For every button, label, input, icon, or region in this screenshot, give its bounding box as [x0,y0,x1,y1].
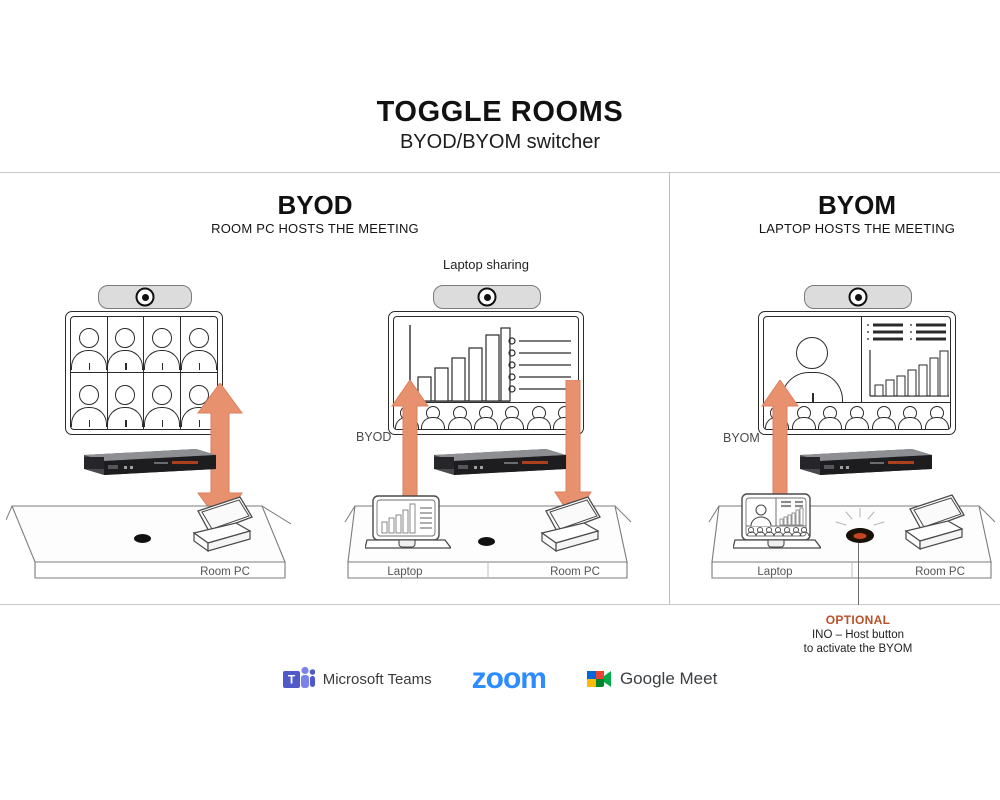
laptop-sharing-caption: Laptop sharing [386,257,586,272]
byom-panel-title: BYOM [722,190,992,221]
byod-table-label-roompc-2: Room PC [515,566,635,578]
byod-table-puck [134,534,151,543]
logo-label-zoom: zoom [472,662,546,696]
microsoft-teams-icon: T [283,666,315,692]
byom-panel-subtitle: LAPTOP HOSTS THE MEETING [722,221,992,236]
participant-tile [144,317,181,373]
byom-table-label-laptop: Laptop [715,566,835,578]
byod-table-label-laptop: Laptop [345,566,465,578]
byod-sharing-table-puck [478,537,495,546]
google-meet-icon [586,668,612,690]
byom-flow-label: BYOM [723,431,760,445]
video-bar-camera [98,285,192,309]
logo-label-google-meet: Google Meet [620,669,717,689]
byom-content-pane [861,317,950,403]
svg-text:T: T [288,673,296,687]
page-subtitle: BYOD/BYOM switcher [0,131,1000,154]
platform-logos: T Microsoft Teams zoom Google Meet [0,662,1000,696]
logo-label-teams: Microsoft Teams [323,671,432,688]
participant-tile [108,317,145,373]
byom-laptop-device [733,492,821,559]
byod-table-label-roompc: Room PC [160,566,290,578]
byod-panel-title: BYOD [180,190,450,221]
video-bar-camera [433,285,541,309]
toggle-rooms-appliance [84,447,216,482]
camera-lens-icon [849,288,868,307]
byod-sharing-room-pc-device [536,493,604,560]
panel-divider [669,172,670,604]
footer-divider [0,604,1000,605]
ino-leader-line [858,543,859,605]
participant-tile [71,317,108,373]
byod-room-pc-device [188,493,256,560]
video-bar-camera [804,285,912,309]
logo-google-meet: Google Meet [586,668,717,690]
participant-tile [144,373,181,429]
byom-room-pc-device [900,491,968,558]
optional-note-title: OPTIONAL [758,613,958,627]
byod-panel-subtitle: ROOM PC HOSTS THE MEETING [180,221,450,236]
camera-lens-icon [478,288,497,307]
participant-tile [108,373,145,429]
ino-host-button[interactable] [846,528,874,543]
byom-table-label-roompc: Room PC [880,566,1000,578]
byom-screen-bar-chart [867,348,951,400]
diagram-canvas: TOGGLE ROOMS BYOD/BYOM switcher BYOD ROO… [0,0,1000,800]
toggle-rooms-appliance [434,447,566,482]
header-divider [0,172,1000,173]
logo-zoom: zoom [472,662,546,696]
optional-note-line2: to activate the BYOM [748,642,968,656]
toggle-rooms-appliance [800,447,932,482]
optional-note-line1: INO – Host button [748,628,968,642]
byod-laptop-device [365,494,451,559]
participant-tile [71,373,108,429]
byom-bullet-lists [866,322,950,346]
page-title: TOGGLE ROOMS [0,96,1000,129]
byod-flow-label: BYOD [356,430,391,444]
logo-microsoft-teams: T Microsoft Teams [283,666,432,692]
camera-lens-icon [136,288,155,307]
participant-tile [181,317,218,373]
